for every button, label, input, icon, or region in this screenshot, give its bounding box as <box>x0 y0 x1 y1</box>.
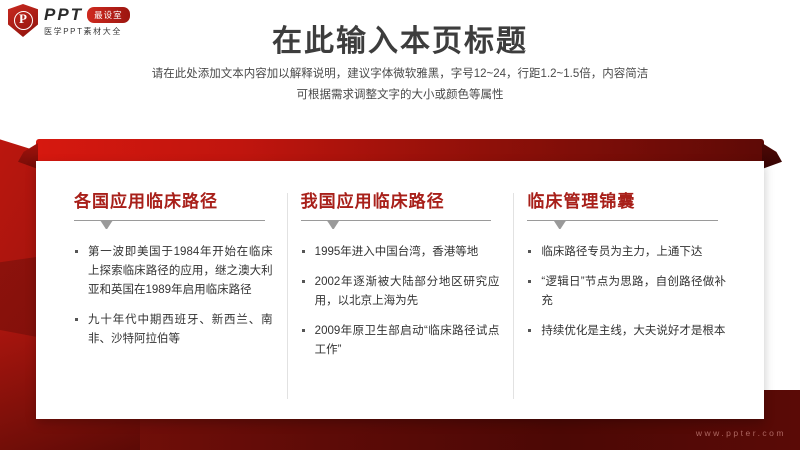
columns-container: 各国应用临床路径 第一波即美国于1984年开始在临床上探索临床路径的应用，继之澳… <box>36 161 764 419</box>
column-2-divider <box>301 220 492 229</box>
column-2: 我国应用临床路径 1995年进入中国台湾，香港等地 2002年逐渐被大陆部分地区… <box>287 187 514 409</box>
ribbon-fold-left <box>18 143 38 169</box>
list-item: “逻辑日”节点为思路，自创路径做补充 <box>527 273 726 311</box>
logo-primary-row: PPT 最设室 <box>44 5 130 25</box>
logo-brand-text: PPT <box>44 5 83 25</box>
logo-tagline: 医学PPT素材大全 <box>44 26 130 37</box>
subtitle-line-2: 可根据需求调整文字的大小或颜色等属性 <box>0 85 800 106</box>
subtitle-line-1: 请在此处添加文本内容加以解释说明，建议字体微软雅黑，字号12~24，行距1.2~… <box>0 64 800 85</box>
brand-logo[interactable]: PPT 最设室 医学PPT素材大全 <box>8 4 130 37</box>
list-item: 2009年原卫生部启动“临床路径试点工作” <box>301 322 500 360</box>
shield-icon <box>8 4 38 37</box>
column-3-bullet-list: 临床路径专员为主力，上通下达 “逻辑日”节点为思路，自创路径做补充 持续优化是主… <box>527 243 726 341</box>
list-item: 1995年进入中国台湾，香港等地 <box>301 243 500 262</box>
column-1-divider <box>74 220 265 229</box>
column-1: 各国应用临床路径 第一波即美国于1984年开始在临床上探索临床路径的应用，继之澳… <box>60 187 287 409</box>
column-2-bullet-list: 1995年进入中国台湾，香港等地 2002年逐渐被大陆部分地区研究应用，以北京上… <box>301 243 500 360</box>
column-1-bullet-list: 第一波即美国于1984年开始在临床上探索临床路径的应用，继之澳大利亚和英国在19… <box>74 243 273 349</box>
site-watermark: www.ppter.com <box>696 428 786 438</box>
page-subtitle: 请在此处添加文本内容加以解释说明，建议字体微软雅黑，字号12~24，行距1.2~… <box>0 64 800 107</box>
slide: PPT 最设室 医学PPT素材大全 在此输入本页标题 请在此处添加文本内容加以解… <box>0 0 800 450</box>
list-item: 持续优化是主线，大夫说好才是根本 <box>527 322 726 341</box>
logo-badge: 最设室 <box>87 7 130 23</box>
column-1-title: 各国应用临床路径 <box>74 187 273 212</box>
column-3-title: 临床管理锦囊 <box>527 187 726 212</box>
list-item: 九十年代中期西班牙、新西兰、南非、沙特阿拉伯等 <box>74 311 273 349</box>
content-card: 各国应用临床路径 第一波即美国于1984年开始在临床上探索临床路径的应用，继之澳… <box>36 161 764 419</box>
list-item: 2002年逐渐被大陆部分地区研究应用，以北京上海为先 <box>301 273 500 311</box>
logo-text-group: PPT 最设室 医学PPT素材大全 <box>44 5 130 37</box>
content-panel: 各国应用临床路径 第一波即美国于1984年开始在临床上探索临床路径的应用，继之澳… <box>18 139 782 419</box>
column-2-title: 我国应用临床路径 <box>301 187 500 212</box>
column-3-divider <box>527 220 718 229</box>
list-item: 临床路径专员为主力，上通下达 <box>527 243 726 262</box>
ribbon-banner <box>36 139 764 161</box>
column-3: 临床管理锦囊 临床路径专员为主力，上通下达 “逻辑日”节点为思路，自创路径做补充… <box>513 187 740 409</box>
ribbon-fold-right <box>762 143 782 169</box>
list-item: 第一波即美国于1984年开始在临床上探索临床路径的应用，继之澳大利亚和英国在19… <box>74 243 273 300</box>
